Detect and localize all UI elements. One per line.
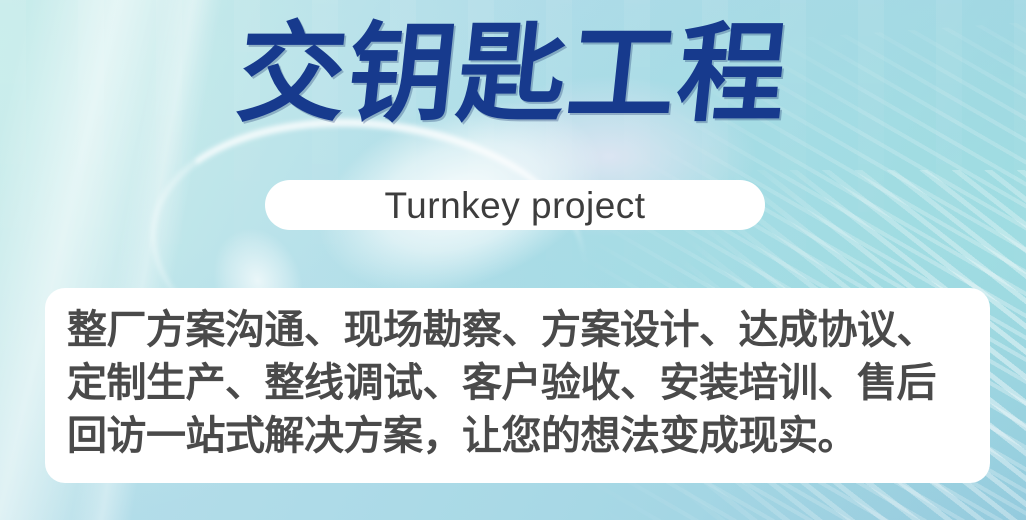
- promo-banner: 交钥匙工程 Turnkey project 整厂方案沟通、现场勘察、方案设计、达…: [0, 0, 1026, 520]
- description-line-2: 定制生产、整线调试、客户验收、安装培训、售后: [67, 357, 968, 410]
- subtitle-pill-label: Turnkey project: [384, 187, 645, 224]
- description-card: 整厂方案沟通、现场勘察、方案设计、达成协议、 定制生产、整线调试、客户验收、安装…: [45, 288, 990, 483]
- description-line-3: 回访一站式解决方案，让您的想法变成现实。: [67, 410, 968, 463]
- banner-title: 交钥匙工程: [0, 16, 1026, 134]
- subtitle-pill: Turnkey project: [265, 180, 765, 230]
- description-line-1: 整厂方案沟通、现场勘察、方案设计、达成协议、: [67, 304, 968, 357]
